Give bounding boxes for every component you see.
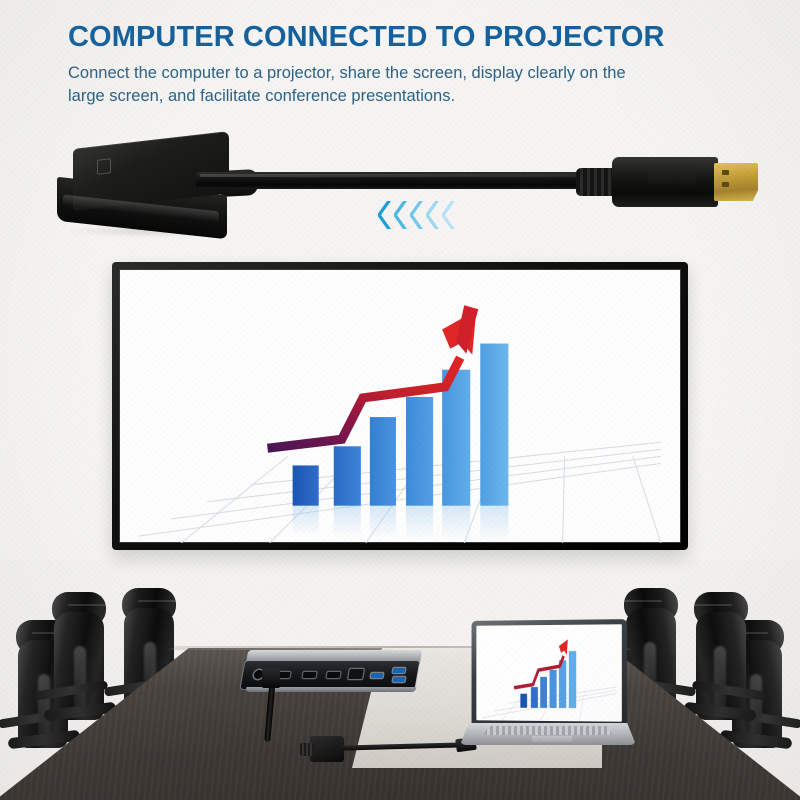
- hdmi-port: [326, 672, 340, 678]
- usb-a-3-port: [371, 673, 384, 678]
- laptop-lid: [472, 619, 627, 727]
- bar: [531, 687, 538, 708]
- chart-floor-grid: [139, 442, 661, 543]
- chart-svg: [119, 269, 681, 543]
- bar: [520, 694, 527, 708]
- gold-plated-contacts: [714, 163, 758, 201]
- product-marketing-image: COMPUTER CONNECTED TO PROJECTOR Connect …: [0, 0, 800, 800]
- bar: [334, 446, 361, 505]
- square-outline-logo-icon: [97, 158, 111, 175]
- header: COMPUTER CONNECTED TO PROJECTOR Connect …: [68, 22, 748, 107]
- chevron-left-icon: [442, 200, 456, 230]
- chart-svg: [476, 624, 621, 721]
- bar: [540, 677, 547, 708]
- growth-bar-chart: [119, 269, 681, 543]
- cable-highlight: [200, 174, 592, 177]
- vga-adapter-body: [310, 736, 344, 762]
- page-title: COMPUTER CONNECTED TO PROJECTOR: [68, 22, 748, 53]
- bar: [406, 397, 433, 506]
- usb-a-3-port: [393, 677, 406, 682]
- page-subtitle: Connect the computer to a projector, sha…: [68, 62, 628, 108]
- hdmi-male-connector: [576, 150, 762, 216]
- dock-hdmi-plug: [262, 668, 280, 688]
- bar: [370, 417, 396, 506]
- bar: [569, 651, 576, 708]
- chevron-left-icon: [426, 200, 440, 230]
- laptop-screen: [476, 624, 621, 721]
- bar: [550, 670, 557, 708]
- laptop-keyboard: [484, 726, 612, 735]
- ethernet-port: [348, 669, 364, 679]
- bar: [480, 344, 508, 506]
- connector-pin: [722, 170, 729, 175]
- growth-bar-chart: [476, 624, 621, 721]
- bar: [293, 465, 319, 505]
- usb-a-3-port: [393, 668, 406, 673]
- signal-flow-chevrons: [378, 200, 456, 230]
- laptop-trackpad: [532, 736, 572, 742]
- vga-to-hdmi-adapter: [300, 736, 344, 762]
- displayport: [302, 672, 316, 678]
- chart-bars: [293, 344, 509, 506]
- connector-pin: [722, 182, 729, 187]
- hardware-showcase-row: [0, 128, 800, 254]
- connector-body-notch: [648, 162, 696, 184]
- chart-floor-grid: [481, 687, 616, 722]
- chevron-left-icon: [378, 200, 392, 230]
- chevron-left-icon: [410, 200, 424, 230]
- chevron-left-icon: [394, 200, 408, 230]
- chart-bars: [520, 651, 576, 708]
- screen-display-area: [119, 269, 681, 543]
- projector-screen: [112, 262, 688, 550]
- vga-connector-head: [300, 743, 314, 756]
- laptop: [460, 620, 636, 756]
